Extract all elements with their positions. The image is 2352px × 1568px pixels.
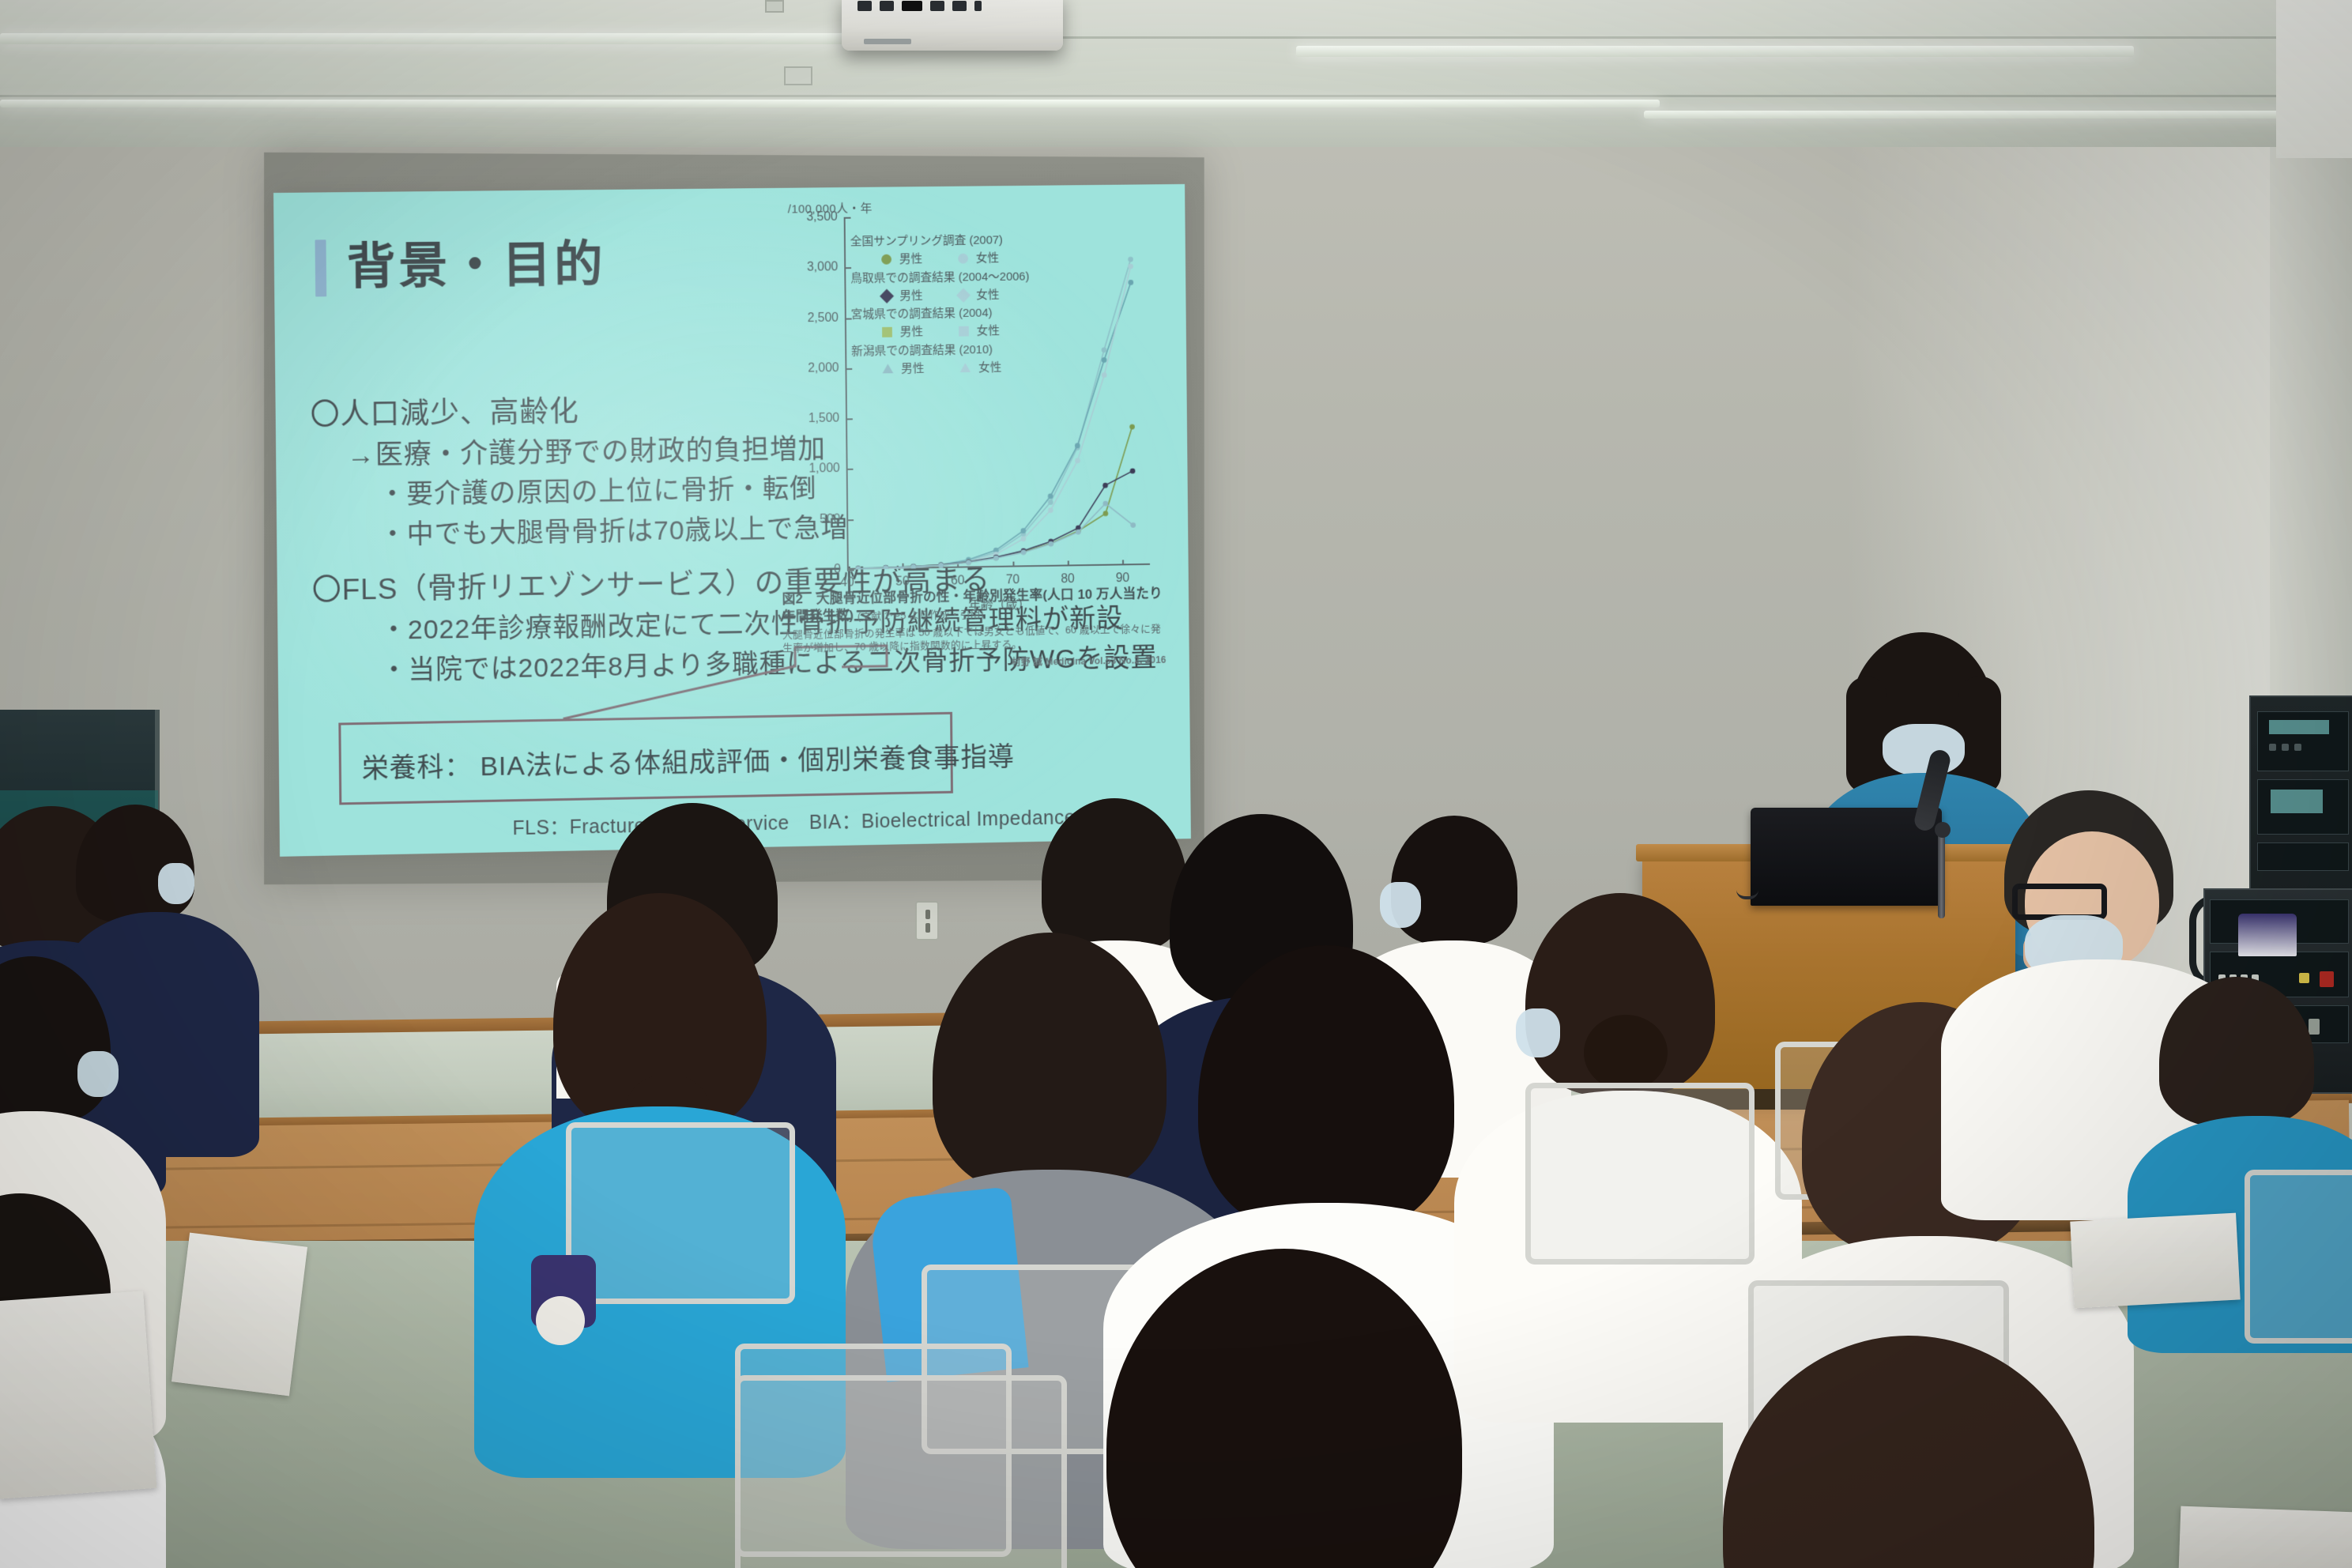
chart-legend-label: 女性 — [976, 250, 1000, 268]
presenter-laptop — [1751, 808, 1942, 906]
chart-legend-label: 男性 — [899, 251, 923, 269]
handout-paper — [2070, 1213, 2240, 1309]
section-1-heading: 〇人口減少、高齢化 — [310, 388, 847, 436]
chart-x-tick: 90 — [1116, 565, 1130, 586]
chart-legend-label: 女性 — [978, 358, 1002, 376]
chart-legend-entries: 男性女性 — [851, 358, 1030, 379]
chart-legend-marker-icon — [881, 254, 891, 265]
ceiling-light — [0, 100, 1660, 107]
callout-text: 栄養科： BIA法による体組成評価・個別栄養食事指導 — [362, 735, 1016, 786]
chart-legend-entries: 男性女性 — [851, 322, 1030, 342]
audience-glasses-icon — [2012, 884, 2107, 920]
ceiling-vent-icon — [784, 66, 812, 85]
ceiling-light — [0, 33, 854, 44]
chart-legend-marker-icon — [883, 364, 894, 374]
rack-unit — [2257, 779, 2349, 835]
chart-legend-marker-icon — [956, 288, 971, 302]
handout-paper — [0, 1291, 156, 1498]
microphone-joint — [1935, 822, 1951, 838]
pouch-charm-icon — [536, 1296, 585, 1345]
chart-x-tick: 50 — [895, 569, 910, 590]
ceiling-light — [1644, 111, 2339, 119]
handout-paper — [2179, 1506, 2352, 1568]
chair — [566, 1122, 795, 1304]
chart-y-tick: 3,500 — [806, 210, 843, 224]
chart-legend-marker-icon — [958, 254, 968, 264]
slide-title: 背景・目的 — [346, 241, 605, 292]
audience-bun — [1584, 1015, 1668, 1091]
chart-legend-entries: 男性女性 — [850, 285, 1029, 306]
chart-y-tick: 1,500 — [808, 412, 846, 426]
audience-face-mask — [77, 1051, 119, 1097]
chart-legend-group: 全国サンプリング調査 (2007) — [850, 231, 1029, 251]
chart-legend-label: 男性 — [899, 287, 923, 305]
chart-legend-marker-icon — [882, 327, 892, 337]
presentation-slide: 背景・目的 〇人口減少、高齢化 →医療・介護分野での財政的負担増加 ・要介護の原… — [273, 184, 1191, 857]
audience-face-mask — [1380, 882, 1421, 928]
tissue-box — [2238, 914, 2297, 956]
chart-legend-marker-icon — [880, 289, 894, 303]
chart-legend-group: 新潟県での調査結果 (2010) — [851, 340, 1030, 360]
chart-legend-label: 女性 — [976, 286, 1000, 304]
chart-caption-subtitle: (文献 2～5 より作成・引用) — [857, 609, 984, 622]
section-1-sub: →医療・介護分野での財政的負担増加 — [347, 429, 848, 476]
chart-legend-group: 宮城県での調査結果 (2004) — [851, 303, 1030, 324]
chart-y-tick: 2,000 — [808, 361, 845, 375]
presenter-face-mask — [1883, 724, 1965, 776]
title-accent-bar — [315, 239, 327, 296]
chart-caption-body: 大腿骨近位部骨折の発生率は 50 歳以下では男女とも低値で、60 歳以上で徐々に… — [782, 622, 1166, 654]
chair — [2245, 1170, 2352, 1344]
ceiling-projector — [842, 0, 1063, 51]
microphone-stand — [1938, 831, 1945, 918]
chart-legend-label: 女性 — [977, 322, 1001, 340]
slide-title-row: 背景・目的 — [315, 237, 606, 297]
chart-legend-label: 男性 — [900, 323, 924, 341]
chair — [1525, 1083, 1755, 1265]
projector-lens — [864, 39, 911, 44]
chart-y-tick: 3,000 — [807, 261, 844, 275]
chart-legend-marker-icon — [960, 363, 971, 372]
slide-chart: /100,000人・年 05001,0001,5002,0002,5003,00… — [775, 195, 1166, 638]
chart-y-tick: 500 — [820, 512, 846, 526]
chart-legend-label: 男性 — [901, 360, 925, 378]
chart-legend-entries: 男性女性 — [850, 249, 1029, 269]
lecture-hall-scene: 背景・目的 〇人口減少、高齢化 →医療・介護分野での財政的負担増加 ・要介護の原… — [0, 0, 2352, 1568]
chart-y-tick: 1,000 — [808, 462, 846, 477]
ceiling-vent-icon — [765, 0, 784, 13]
audience-face-mask — [158, 863, 194, 904]
presenter-hair-side-left — [1846, 677, 1887, 793]
chart-legend: 全国サンプリング調査 (2007)男性女性鳥取県での調査結果 (2004～200… — [850, 231, 1031, 379]
rack-unit — [2257, 842, 2349, 871]
ceiling-light — [1296, 46, 2134, 57]
wall-outlet-icon — [915, 901, 939, 940]
ceiling — [0, 0, 2352, 150]
chart-legend-marker-icon — [959, 326, 969, 337]
chart-x-tick: 80 — [1061, 566, 1075, 586]
projector-ports — [857, 0, 1047, 16]
handout-paper — [171, 1233, 307, 1396]
audience-face-mask — [1516, 1008, 1560, 1057]
chart-caption: 図2 大腿骨近位部骨折の性・年齢別発生率(人口 10 万人当たり年間発生数) (… — [782, 585, 1167, 673]
slide-section-1: 〇人口減少、高齢化 →医療・介護分野での財政的負担増加 ・要介護の原因の上位に骨… — [310, 388, 848, 557]
chart-x-tick: 60 — [951, 567, 965, 588]
callout-box: 栄養科： BIA法による体組成評価・個別栄養食事指導 — [338, 712, 953, 805]
rack-unit — [2257, 711, 2349, 771]
chart-x-tick: 40 — [840, 570, 854, 590]
chair — [735, 1375, 1067, 1568]
chart-y-tick: 2,500 — [808, 311, 845, 325]
chart-legend-group: 鳥取県での調査結果 (2004～2006) — [850, 267, 1029, 288]
chart-x-tick: 70 — [1006, 567, 1020, 587]
window-frame — [2276, 0, 2352, 158]
